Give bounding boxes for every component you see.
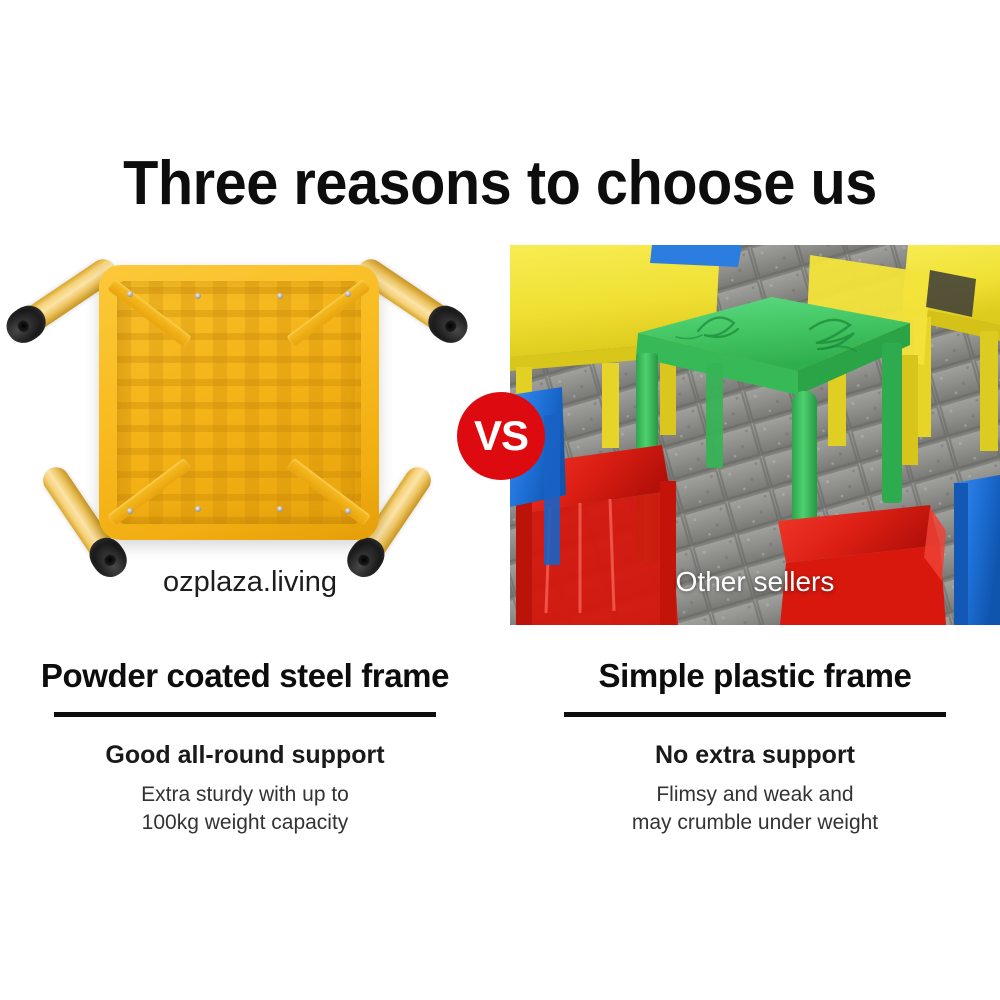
screw-icon [345,291,351,297]
column-body-line: may crumble under weight [510,809,1000,837]
competitor-photo [510,245,1000,625]
column-others: Simple plastic frame No extra support Fl… [510,648,1000,837]
column-body: Extra sturdy with up to 100kg weight cap… [0,781,490,837]
column-title: Powder coated steel frame [0,648,490,696]
screw-icon [345,508,351,514]
competitor-photo-svg [510,245,1000,625]
screw-icon [127,508,133,514]
screw-icon [277,293,283,299]
column-subtitle: Good all-round support [0,739,490,771]
column-divider [564,712,946,717]
screw-icon [127,291,133,297]
column-ours: Powder coated steel frame Good all-round… [0,648,490,837]
screw-icon [195,293,201,299]
column-title: Simple plastic frame [510,648,1000,696]
column-body-line: Extra sturdy with up to [0,781,490,809]
watermark-brand: ozplaza.living [0,565,500,599]
column-divider [54,712,436,717]
column-subtitle: No extra support [510,739,1000,771]
screw-icon [195,506,201,512]
screw-icon [277,506,283,512]
column-body-line: Flimsy and weak and [510,781,1000,809]
page-title: Three reasons to choose us [35,148,965,220]
table-top-underside [99,265,379,540]
leg-cap-icon [422,299,474,350]
product-image-left: ozplaza.living [0,243,500,625]
column-body: Flimsy and weak and may crumble under we… [510,781,1000,837]
leg-cap-icon [0,299,52,350]
table-illustration [95,253,385,583]
infographic-page: Three reasons to choose us [0,0,1000,1000]
vs-badge: VS [457,392,545,480]
column-body-line: 100kg weight capacity [0,809,490,837]
comparison-columns: Powder coated steel frame Good all-round… [0,648,1000,898]
